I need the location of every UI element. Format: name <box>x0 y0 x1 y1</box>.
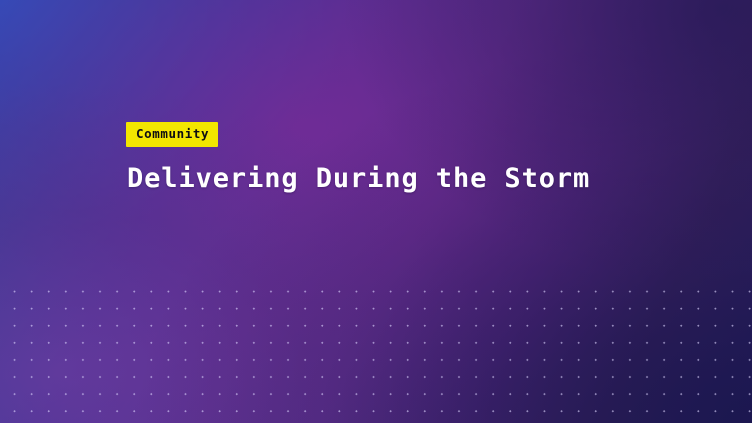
category-badge[interactable]: Community <box>126 122 218 147</box>
banner-content: Community Delivering During the Storm <box>126 122 712 194</box>
background-gradient-dark-top-right <box>0 0 752 423</box>
banner-headline: Delivering During the Storm <box>127 163 712 195</box>
community-banner: Community Delivering During the Storm <box>0 0 752 423</box>
